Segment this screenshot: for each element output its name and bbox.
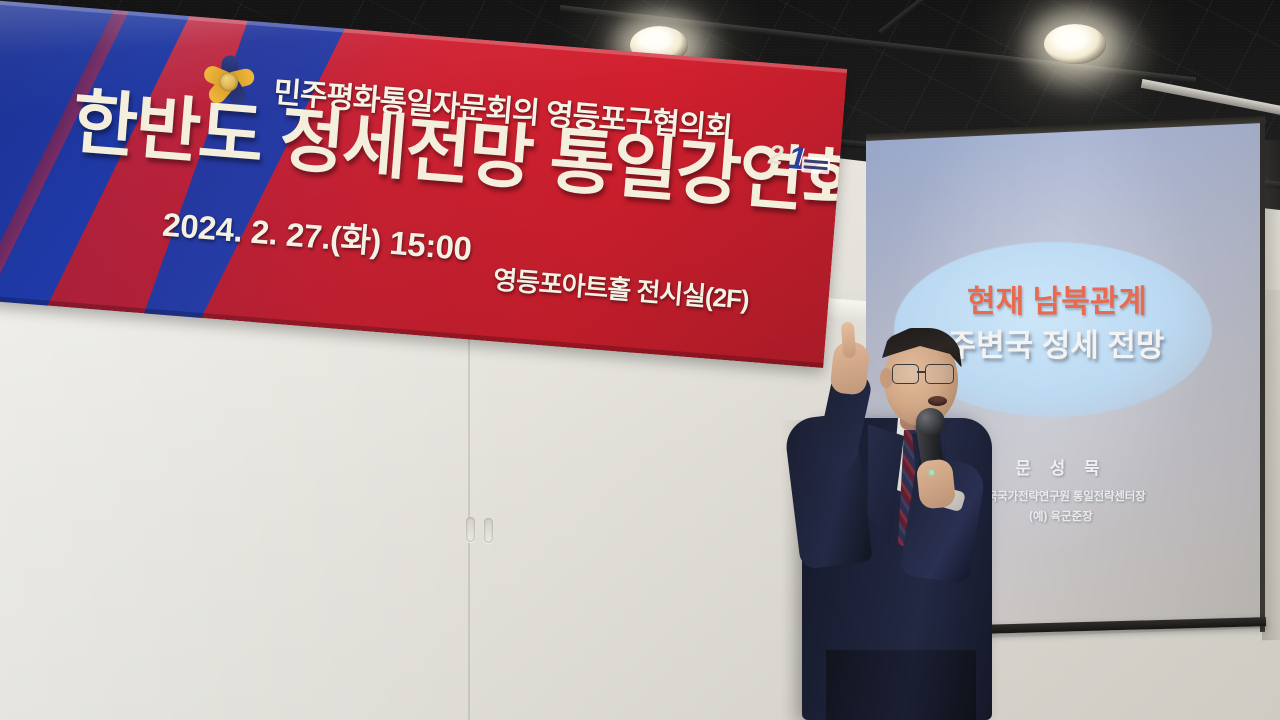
event-banner: 민주평화통일자문회의 영등포구협의회 한반도 정세전망 통일강연회 2024. … xyxy=(0,0,850,360)
wall-fixture-slot-left xyxy=(466,517,475,542)
banner-glare xyxy=(0,0,847,368)
speaker-glasses-icon xyxy=(892,364,956,384)
ceiling-spotlight-right xyxy=(1044,24,1106,64)
speaker-mic-hand xyxy=(916,458,957,510)
event-photo-scene: 민주평화통일자문회의 영등포구협의회 한반도 정세전망 통일강연회 2024. … xyxy=(0,0,1280,720)
speaker-person xyxy=(780,320,1030,720)
wall-fixture-slot-right xyxy=(484,518,493,543)
term-21-logo: 2 1 xyxy=(766,138,833,187)
slide-title-line-1: 현재 남북관계 xyxy=(922,276,1192,321)
speaker-mouth xyxy=(928,396,947,406)
speaker-index-finger xyxy=(841,322,856,359)
term-logo-caption-block xyxy=(801,156,830,174)
term-logo-digit-2: 2 xyxy=(767,139,784,171)
screen-right-frame xyxy=(1260,120,1265,632)
wall-panel-seam-1 xyxy=(468,300,470,720)
speaker-trousers xyxy=(826,650,976,720)
